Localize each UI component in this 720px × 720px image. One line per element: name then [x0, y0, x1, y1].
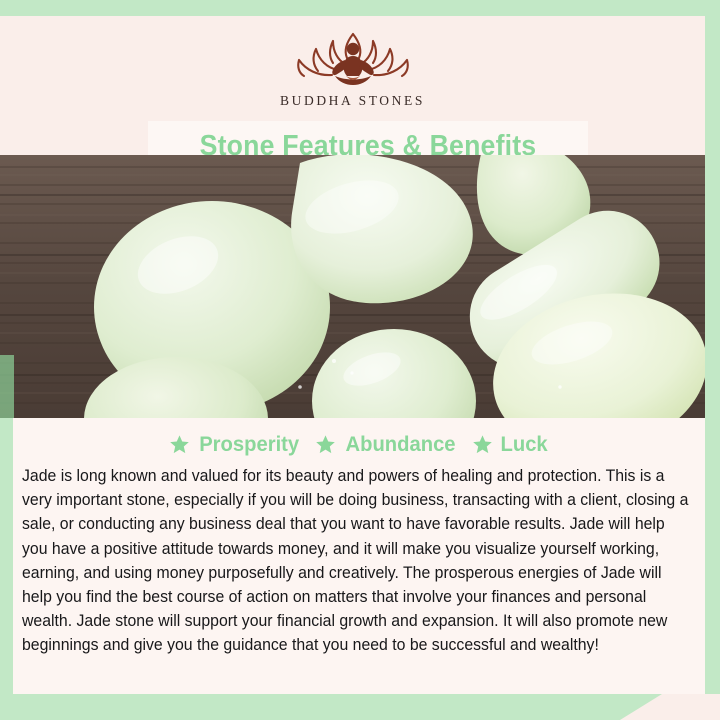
frame-bottom-border [0, 694, 720, 720]
frame-top-border [0, 0, 720, 16]
star-icon [169, 434, 190, 455]
star-icon [315, 434, 336, 455]
brand-name: BUDDHA STONES [280, 93, 425, 109]
star-icon [472, 434, 493, 455]
photo-illustration [0, 155, 705, 418]
benefit-label: Prosperity [199, 432, 299, 457]
photo-left-green-strip [0, 355, 14, 418]
lotus-meditation-icon [289, 26, 417, 88]
benefit-label: Luck [501, 432, 548, 457]
benefit-label: Abundance [346, 432, 456, 457]
benefit-item-prosperity: Prosperity [169, 432, 302, 457]
benefit-item-luck: Luck [472, 432, 549, 457]
infographic-page: BUDDHA STONES Stone Features & Benefits [0, 0, 720, 720]
frame-left-border [0, 418, 13, 694]
frame-right-border [704, 0, 720, 720]
content-panel: Prosperity Abundance Luck Jade is long k… [13, 418, 705, 694]
description-text: Jade is long known and valued for its be… [22, 464, 692, 658]
jade-stones-photo: Jade [0, 155, 705, 418]
header: BUDDHA STONES Stone Features & Benefits [0, 16, 705, 155]
brand-logo: BUDDHA STONES [0, 26, 705, 109]
benefit-item-abundance: Abundance [315, 432, 459, 457]
benefits-row: Prosperity Abundance Luck [13, 418, 705, 457]
